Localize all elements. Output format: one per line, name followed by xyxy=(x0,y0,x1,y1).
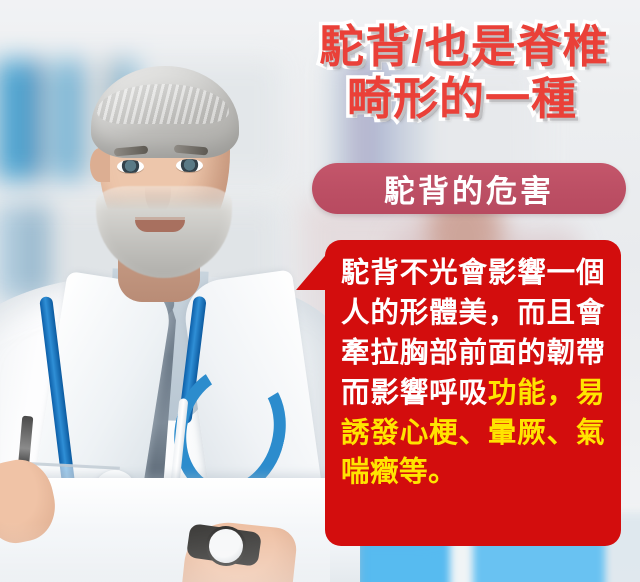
section-banner-label: 駝背的危害 xyxy=(384,166,554,211)
eye-left xyxy=(117,160,144,173)
page-title: 駝背/也是脊椎 畸形的一種 xyxy=(286,24,638,121)
title-line-1: 駝背/也是脊椎 xyxy=(290,24,638,69)
title-line-2: 畸形的一種 xyxy=(286,76,638,121)
crossed-arms xyxy=(0,478,360,582)
grey-hair xyxy=(91,66,239,158)
speech-bubble-text: 駝背不光會影響一個人的形體美，而且會牽拉胸部前面的韌帶而影響呼吸功能，易誘發心梗… xyxy=(341,254,605,493)
smiling-mouth xyxy=(135,220,185,232)
grey-beard xyxy=(96,186,232,278)
section-banner: 駝背的危害 xyxy=(312,163,626,214)
eye-right xyxy=(176,159,203,172)
poster-canvas: 駝背/也是脊椎 畸形的一種 駝背的危害 駝背不光會影響一個人的形體美，而且會牽拉… xyxy=(0,0,640,582)
speech-bubble: 駝背不光會影響一個人的形體美，而且會牽拉胸部前面的韌帶而影響呼吸功能，易誘發心梗… xyxy=(325,240,621,546)
